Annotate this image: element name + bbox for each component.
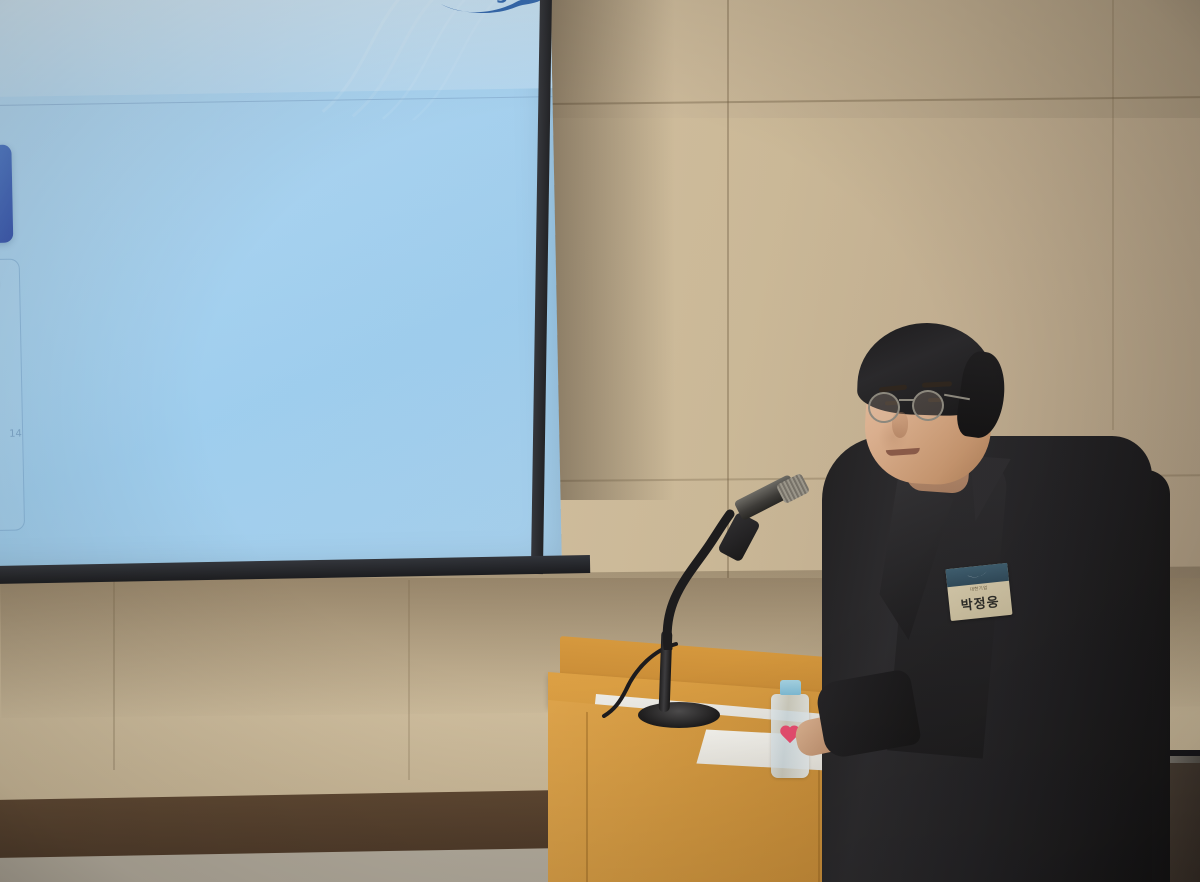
eyeglasses — [866, 390, 978, 424]
name-badge: 대한기업 박정웅 — [945, 563, 1012, 621]
presentation-slide: Sanigen olution Provider 반 Total Solutio… — [0, 0, 562, 582]
wall-seam — [408, 580, 410, 780]
sterilization-photo-card: 살균 식품 제조,가공 時 안전한 살균 — [0, 145, 13, 247]
wall-seam — [113, 580, 115, 770]
slide-page-number: 14 — [9, 429, 22, 440]
sterilization-solution-panel: 살균솔루션 진단 이후 확인된 식중독 원인 물질의 제거를 위한 살균 솔루션… — [0, 259, 25, 535]
sanigen-logo: Sanigen — [428, 0, 549, 16]
sterilization-caption-2: 안전한 살균 — [0, 209, 9, 228]
sanigen-swoosh-icon — [439, 0, 543, 16]
glasses-temple-arm — [944, 394, 970, 400]
wall-seam — [1112, 0, 1114, 430]
sterilization-item-2: VOMIT CLEAN UP 환경 위생 제품 — [0, 344, 12, 422]
glasses-lens-right — [911, 389, 944, 421]
glasses-bridge — [899, 399, 914, 401]
projection-screen: Sanigen olution Provider 반 Total Solutio… — [0, 0, 562, 582]
podium-seam — [586, 712, 588, 882]
bottle-cap — [780, 680, 801, 695]
sterilization-desc-2: 제거를 위한 살균 솔루션 제공 — [0, 320, 14, 342]
dna-watermark — [310, 0, 562, 122]
conference-room-photo: Sanigen olution Provider 반 Total Solutio… — [0, 0, 1200, 882]
screen-cast-shadow — [545, 0, 675, 500]
sterilization-item-4-label: 개인 위생 제품 — [0, 492, 14, 510]
glasses-lens-left — [867, 391, 901, 424]
microphone-base[interactable] — [638, 702, 720, 728]
badge-logo-icon — [966, 570, 989, 580]
sterilization-item-4: 개인 위생 제품 — [0, 428, 14, 514]
microphone-gooseneck[interactable] — [650, 500, 740, 650]
sterilization-caption-1: 식품 제조,가공 時 — [0, 190, 9, 209]
sterilization-item-2-label: 환경 위생 제품 — [0, 402, 12, 420]
